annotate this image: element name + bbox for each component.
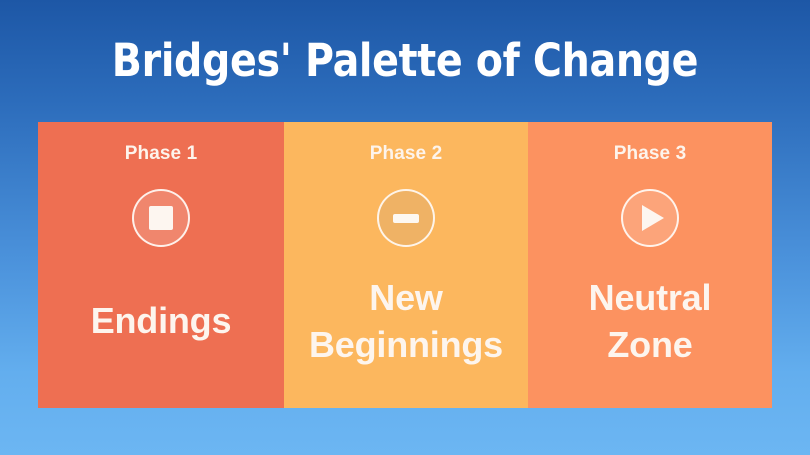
phase-label-1: Phase 1 <box>125 142 198 166</box>
phase-panel-3[interactable]: Phase 3 Neutral Zone <box>528 122 772 408</box>
phase-title-2-line-2: Beginnings <box>290 321 522 368</box>
phase-panel-1[interactable]: Phase 1 Endings <box>38 122 284 408</box>
phase-title-3-line-2: Zone <box>534 321 766 368</box>
page-title: Bridges' Palette of Change <box>49 34 762 88</box>
phase-title-3-line-1: Neutral <box>534 274 766 321</box>
phase-title-2: New Beginnings <box>284 274 528 368</box>
phase-label-3: Phase 3 <box>614 142 687 166</box>
phase-title-1-line-1: Endings <box>44 297 278 344</box>
phase-title-1: Endings <box>38 297 284 344</box>
phase-panel-2[interactable]: Phase 2 New Beginnings <box>284 122 528 408</box>
play-icon <box>621 189 679 247</box>
play-icon-glyph <box>642 205 664 231</box>
phase-title-2-line-1: New <box>290 274 522 321</box>
phase-panel-row: Phase 1 Endings Phase 2 New Beginnings P… <box>38 122 772 408</box>
phase-label-2: Phase 2 <box>370 142 443 166</box>
pause-icon <box>377 189 435 247</box>
pause-icon-glyph <box>393 214 419 223</box>
phase-title-3: Neutral Zone <box>528 274 772 368</box>
stop-icon-glyph <box>149 206 173 230</box>
stop-icon <box>132 189 190 247</box>
slide-canvas: Bridges' Palette of Change Phase 1 Endin… <box>0 0 810 455</box>
